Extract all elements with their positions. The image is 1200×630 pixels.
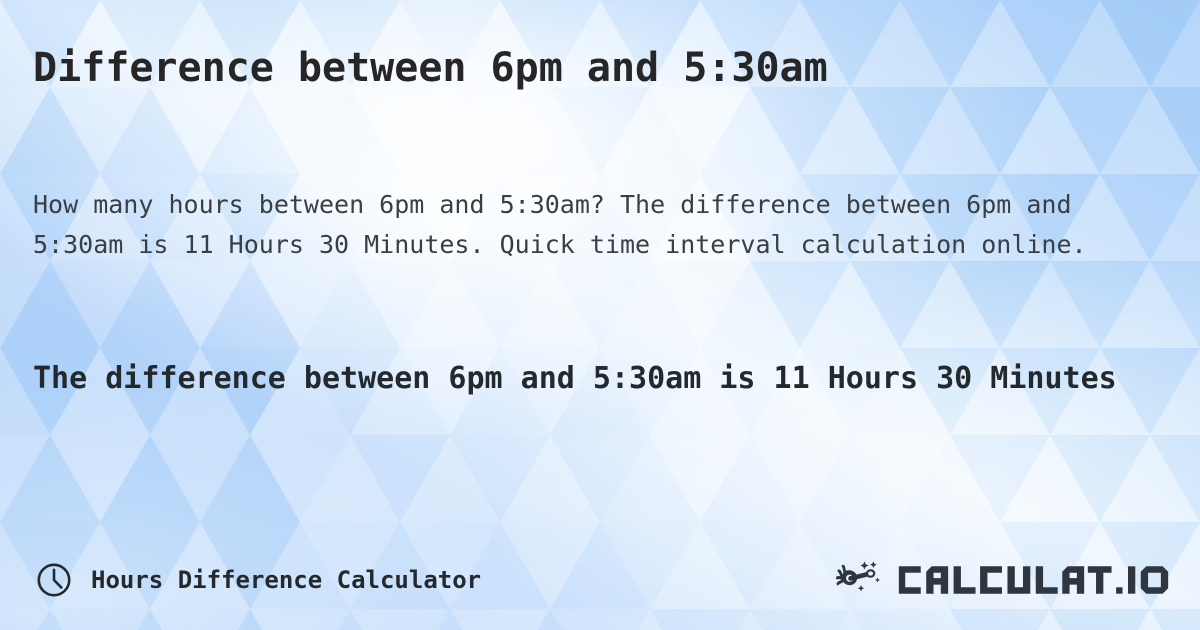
- footer-tool-label: Hours Difference Calculator: [91, 566, 481, 594]
- brand-logo-group[interactable]: CALCULAT.IO: [833, 545, 1182, 615]
- intro-paragraph: How many hours between 6pm and 5:30am? T…: [33, 185, 1143, 265]
- share-card: Difference between 6pm and 5:30am How ma…: [0, 0, 1200, 630]
- hand-magic-wand-icon: [833, 558, 889, 602]
- answer-heading: The difference between 6pm and 5:30am is…: [33, 355, 1133, 403]
- page-title: Difference between 6pm and 5:30am: [33, 44, 1163, 92]
- clock-icon: [36, 562, 72, 598]
- brand-wordmark: [897, 559, 1182, 601]
- footer: Hours Difference Calculator: [0, 545, 1200, 620]
- content-area: Difference between 6pm and 5:30am How ma…: [0, 0, 1200, 630]
- footer-tool[interactable]: Hours Difference Calculator: [36, 545, 481, 615]
